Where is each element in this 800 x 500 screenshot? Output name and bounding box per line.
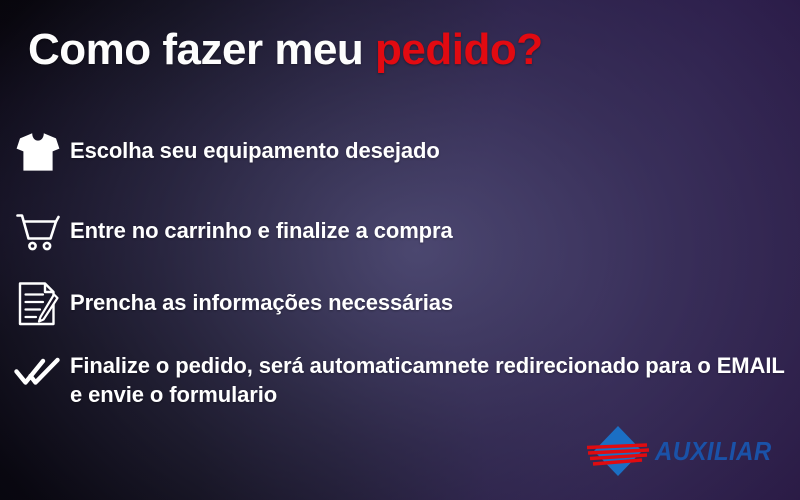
title-white-text: Como fazer meu — [28, 25, 375, 74]
list-item-label: Entre no carrinho e finalize a compra — [64, 206, 453, 246]
list-item-label: Finalize o pedido, será automaticamnete … — [64, 348, 800, 409]
list-item: Prencha as informações necessárias — [0, 278, 800, 330]
list-item: Finalize o pedido, será automaticamnete … — [0, 348, 800, 409]
list-item: Escolha seu equipamento desejado — [0, 126, 800, 178]
tshirt-icon — [12, 126, 64, 178]
slide-canvas: Como fazer meu pedido? Escolha seu equip… — [0, 0, 800, 500]
shopping-cart-icon — [12, 206, 64, 258]
page-title: Como fazer meu pedido? — [28, 28, 543, 72]
title-red-text: pedido? — [375, 25, 543, 74]
auxiliar-diamond-icon — [587, 424, 649, 478]
brand-logo: AUXILIAR — [587, 424, 782, 478]
double-check-icon — [12, 348, 64, 400]
brand-wordmark: AUXILIAR — [655, 436, 772, 467]
list-item-label: Prencha as informações necessárias — [64, 278, 453, 318]
steps-list: Escolha seu equipamento desejado Entre n… — [0, 126, 800, 433]
list-item-label: Escolha seu equipamento desejado — [64, 126, 440, 166]
document-pencil-icon — [12, 278, 64, 330]
list-item: Entre no carrinho e finalize a compra — [0, 206, 800, 258]
